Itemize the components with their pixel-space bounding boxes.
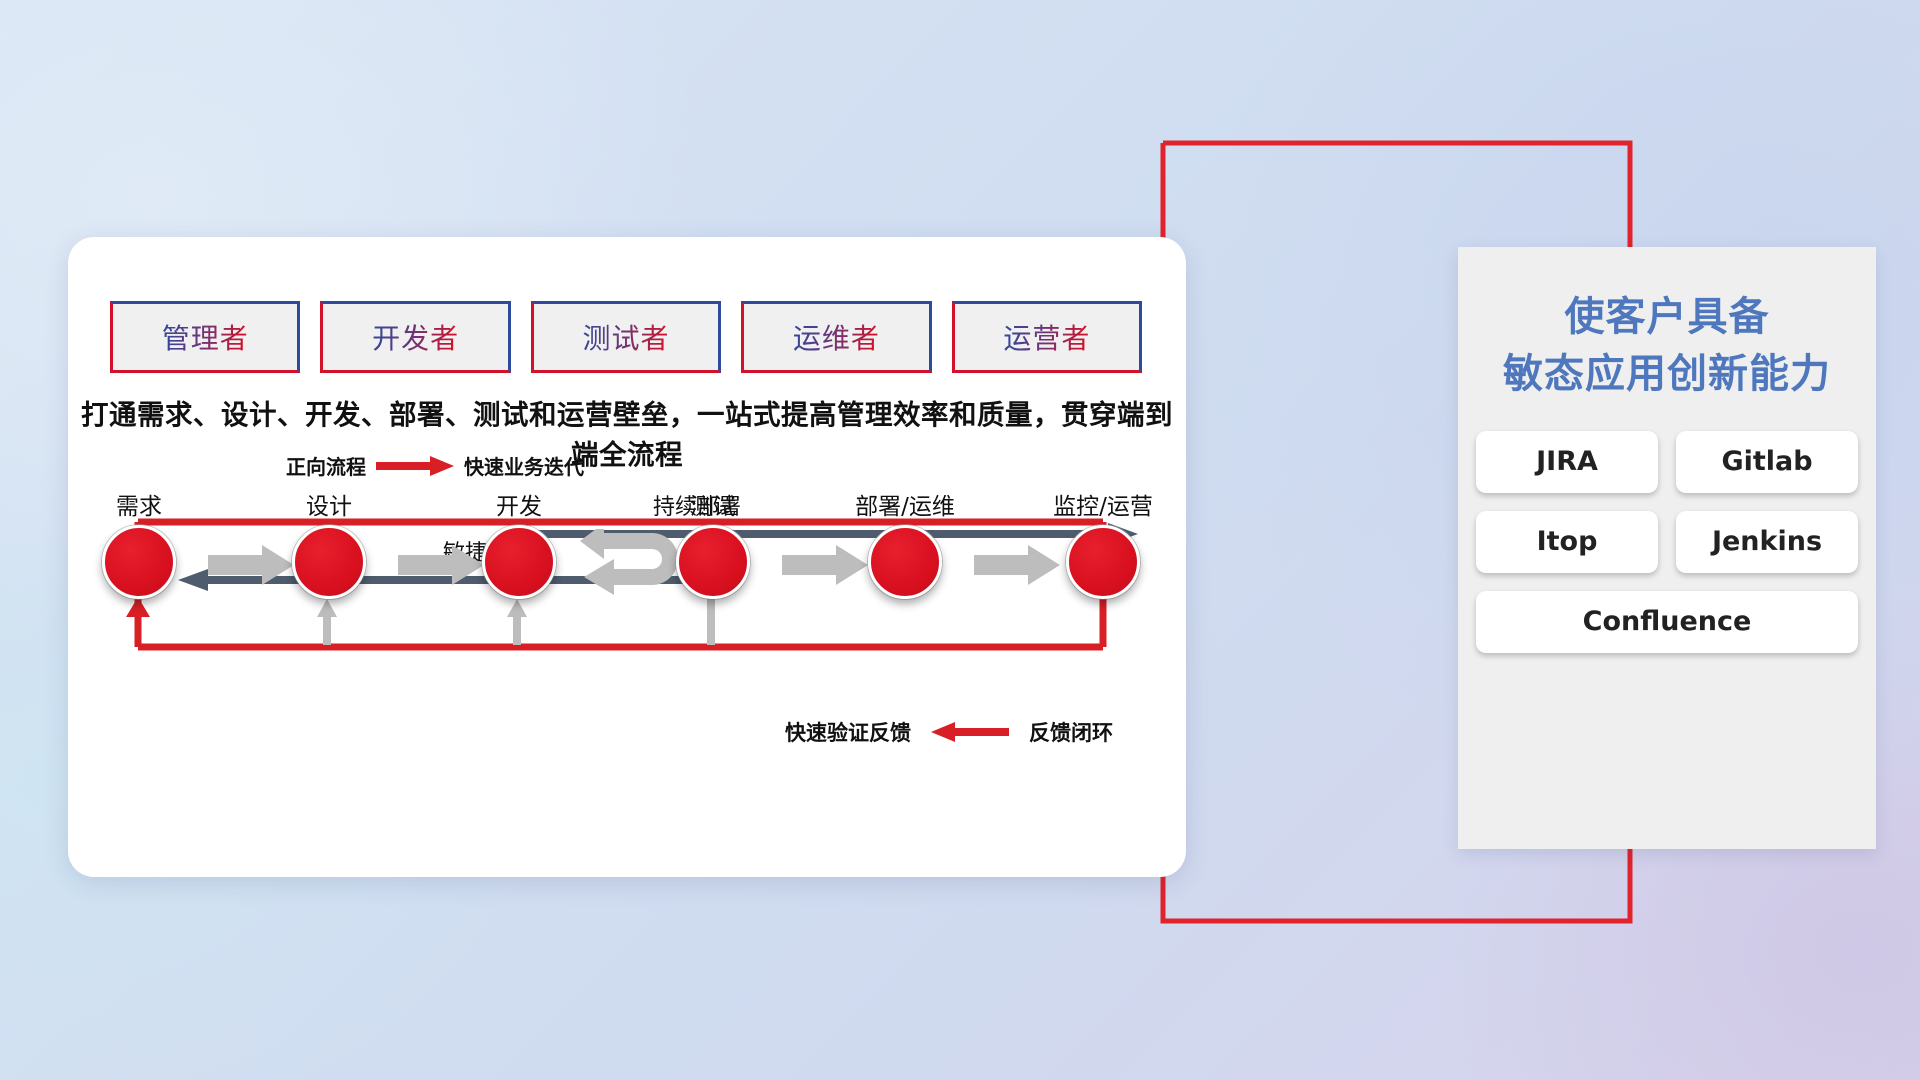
role-label: 开发者 — [372, 317, 459, 357]
node-label: 部署/运维 — [855, 487, 955, 521]
role-box-operations[interactable]: 运营者 — [952, 301, 1142, 373]
measure-label-agile: 敏捷 — [443, 535, 487, 567]
slide-canvas: 管理者 开发者 测试者 运维者 运营者 打通需求、设计、开发、部署、测试和运营壁… — [0, 0, 1920, 1080]
tool-pill-itop[interactable]: Itop — [1476, 511, 1658, 573]
feedback-flow-left-label: 快速验证反馈 — [785, 717, 911, 747]
agile-arrow — [178, 567, 738, 593]
role-label: 运营者 — [1003, 317, 1090, 357]
node-circle — [102, 525, 176, 599]
value-proposition-panel: 使客户具备 敏态应用创新能力 JIRA Gitlab Itop Jenkins … — [1458, 247, 1876, 849]
tool-pill-jira[interactable]: JIRA — [1476, 431, 1658, 493]
panel-title-line2: 敏态应用创新能力 — [1458, 346, 1876, 403]
node-label: 设计 — [306, 487, 352, 521]
feedback-flow-row: 快速验证反馈 反馈闭环 — [785, 717, 1113, 747]
feedback-flow-right-label: 反馈闭环 — [1029, 717, 1113, 747]
role-box-row: 管理者 开发者 测试者 运维者 运营者 — [110, 301, 1142, 373]
role-label: 测试者 — [583, 317, 670, 357]
forward-flow-row: 正向流程 快速业务迭代 — [286, 451, 584, 480]
panel-title-line1: 使客户具备 — [1458, 289, 1876, 346]
tool-label: Itop — [1537, 526, 1598, 557]
panel-title: 使客户具备 敏态应用创新能力 — [1458, 289, 1876, 403]
measure-label-continuous-deployment: 持续部署 — [653, 489, 741, 521]
main-content-card: 管理者 开发者 测试者 运维者 运营者 打通需求、设计、开发、部署、测试和运营壁… — [68, 237, 1186, 877]
role-box-ops[interactable]: 运维者 — [741, 301, 931, 373]
tool-label: Confluence — [1583, 606, 1752, 637]
forward-flow-left-label: 正向流程 — [286, 451, 366, 480]
role-box-tester[interactable]: 测试者 — [531, 301, 721, 373]
role-box-manager[interactable]: 管理者 — [110, 301, 300, 373]
continuous-deployment-arrow — [498, 521, 1138, 547]
forward-flow-right-label: 快速业务迭代 — [464, 451, 584, 480]
headline-text: 打通需求、设计、开发、部署、测试和运营壁垒，一站式提高管理效率和质量，贯穿端到端… — [68, 392, 1186, 472]
role-label: 运维者 — [793, 317, 880, 357]
tool-label: Gitlab — [1721, 446, 1812, 477]
block-arrow-right-icon — [974, 545, 1060, 585]
node-label: 开发 — [496, 487, 542, 521]
left-arrow-icon — [931, 721, 1009, 743]
process-node-requirements[interactable]: 需求 — [102, 525, 176, 599]
tool-label: Jenkins — [1712, 526, 1822, 557]
node-label: 需求 — [116, 487, 162, 521]
tool-pill-confluence[interactable]: Confluence — [1476, 591, 1858, 653]
tool-pill-gitlab[interactable]: Gitlab — [1676, 431, 1858, 493]
right-arrow-icon — [376, 455, 454, 477]
tool-pill-jenkins[interactable]: Jenkins — [1676, 511, 1858, 573]
role-label: 管理者 — [162, 317, 249, 357]
block-arrow-right-icon — [782, 545, 868, 585]
tool-label: JIRA — [1536, 446, 1598, 477]
node-label: 监控/运营 — [1053, 487, 1153, 521]
tool-pill-grid: JIRA Gitlab Itop Jenkins Confluence — [1476, 431, 1858, 653]
role-box-developer[interactable]: 开发者 — [320, 301, 510, 373]
